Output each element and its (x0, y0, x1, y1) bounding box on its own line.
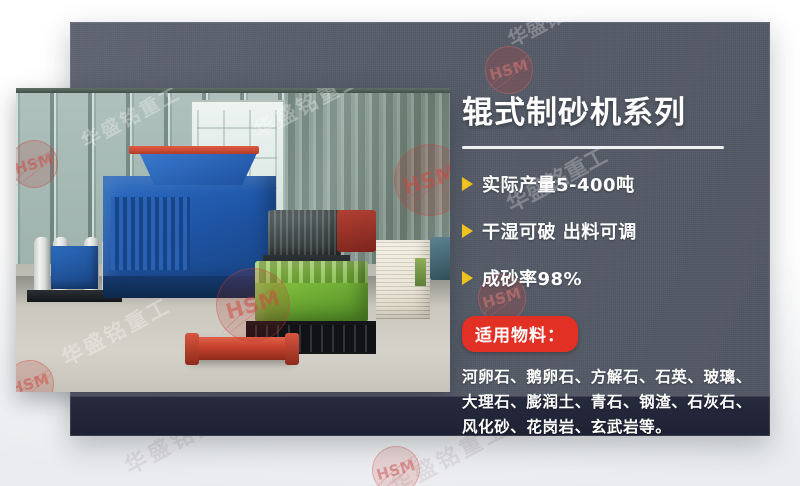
feature-list: 实际产量5-400吨 干湿可破 出料可调 成砂率98% (462, 171, 762, 291)
photo-hopper-red-lip (129, 146, 259, 154)
photo-cabinet-panel (415, 258, 425, 285)
feature-item: 成砂率98% (462, 265, 762, 291)
feature-label: 成砂率98% (482, 265, 582, 291)
photo-crusher-hopper (138, 149, 260, 185)
feature-item: 实际产量5-400吨 (462, 171, 762, 197)
page-title: 辊式制砂机系列 (462, 96, 762, 132)
feature-label: 干湿可破 出料可调 (482, 218, 637, 244)
title-divider (462, 146, 724, 149)
photo-red-drum (337, 210, 376, 253)
materials-text: 河卵石、鹅卵石、方解石、石英、玻璃、大理石、膨润土、青石、钢渣、石灰石、风化砂、… (462, 365, 754, 440)
feature-item: 干湿可破 出料可调 (462, 218, 762, 244)
photo-red-coupling-shaft (190, 337, 294, 360)
photo-blue-aux-unit (51, 246, 99, 289)
photo-gas-cylinder (34, 237, 50, 295)
photo-crusher-ribs (111, 197, 189, 270)
photo-teal-motor (430, 237, 450, 280)
photo-crusher-base (103, 276, 277, 297)
triangle-right-icon (462, 177, 473, 191)
poster-canvas: 华盛铭重工 HSM 华盛铭重工 华盛铭重工 HSM 华盛铭重工 HSM (0, 0, 800, 486)
photo-shaft-flange (285, 333, 299, 365)
photo-electric-motor (268, 210, 342, 259)
photo-motor-fins (268, 210, 342, 259)
photo-shaft-flange (185, 333, 199, 365)
materials-badge: 适用物料： (462, 316, 578, 352)
photo-gearbox-ribs (255, 261, 368, 282)
info-column: 辊式制砂机系列 实际产量5-400吨 干湿可破 出料可调 成砂率98% 适用物料… (462, 96, 762, 440)
feature-label: 实际产量5-400吨 (482, 171, 635, 197)
triangle-right-icon (462, 271, 473, 285)
product-photo: 华盛铭重工 华盛铭重工 华盛铭重工 HSM HSM HSM HSM (16, 88, 450, 392)
triangle-right-icon (462, 224, 473, 238)
photo-roof-beam (16, 88, 450, 93)
